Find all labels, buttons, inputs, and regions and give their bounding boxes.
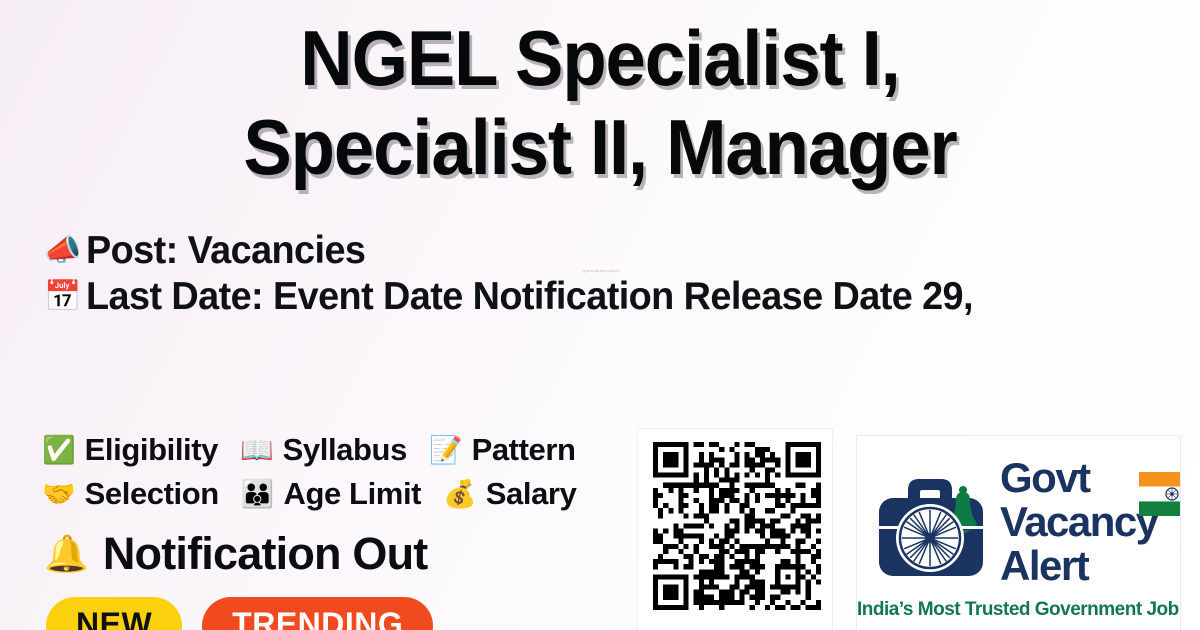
feature-salary: 💰 Salary <box>443 476 576 512</box>
meta-row-last-date: 📅 Last Date: Event Date Notification Rel… <box>44 274 1200 320</box>
title-line-1: NGEL Specialist I, <box>79 14 1121 103</box>
handshake-selection-icon: 🤝 <box>42 481 76 508</box>
watermark-text: govtvacancyalert <box>583 268 619 273</box>
new-badge[interactable]: NEW <box>46 597 182 630</box>
qr-code-card[interactable] <box>637 428 833 630</box>
feature-label-age-limit: Age Limit <box>283 476 421 512</box>
check-mark-icon: ✅ <box>42 437 76 464</box>
exam-paper-icon: 📝 <box>429 437 463 464</box>
feature-row-1: ✅ Eligibility 📖 Syllabus 📝 Pattern <box>42 428 662 472</box>
brand-line-govt: Govt <box>1000 456 1158 500</box>
post-vacancies-text: Post: Vacancies <box>86 229 365 273</box>
brand-logo-card: Govt Vacancy Alert <box>856 435 1181 630</box>
feature-row-2: 🤝 Selection 👪 Age Limit 💰 Salary <box>42 472 662 516</box>
title-line-2: Specialist II, Manager <box>79 103 1121 192</box>
brand-line-alert: Alert <box>1000 544 1158 588</box>
meta-block: 📣 Post: Vacancies 📅 Last Date: Event Dat… <box>44 228 1200 320</box>
qr-code[interactable] <box>653 442 821 610</box>
feature-label-syllabus: Syllabus <box>283 432 407 468</box>
page-title: NGEL Specialist I, Specialist II, Manage… <box>0 14 1200 192</box>
open-book-icon: 📖 <box>240 437 274 464</box>
feature-age-limit: 👪 Age Limit <box>241 476 421 512</box>
family-icon: 👪 <box>241 481 275 508</box>
brand-line-vacancy: Vacancy <box>1000 500 1158 544</box>
india-flag-icon <box>1139 472 1181 516</box>
badge-row: NEW TRENDING <box>46 597 433 630</box>
feature-pattern: 📝 Pattern <box>429 432 576 468</box>
feature-label-selection: Selection <box>85 476 219 512</box>
ashoka-chakra-icon <box>896 504 964 572</box>
job-alert-poster: NGEL Specialist I, Specialist II, Manage… <box>0 0 1200 630</box>
brand-tagline: India’s Most Trusted Government Job Aler… <box>857 599 1181 621</box>
meta-row-post: 📣 Post: Vacancies <box>44 228 1200 274</box>
feature-label-salary: Salary <box>486 476 577 512</box>
notification-out-label: Notification Out <box>103 528 428 580</box>
feature-list: ✅ Eligibility 📖 Syllabus 📝 Pattern 🤝 Sel… <box>42 428 662 516</box>
notification-out-row: 🔔 Notification Out <box>44 528 427 580</box>
feature-label-pattern: Pattern <box>472 432 576 468</box>
money-bag-icon: 💰 <box>443 481 477 508</box>
feature-selection: 🤝 Selection <box>42 476 219 512</box>
brand-wordmark: Govt Vacancy Alert <box>1000 456 1158 588</box>
feature-eligibility: ✅ Eligibility <box>42 432 218 468</box>
briefcase-chakra-bell-logo-icon <box>867 460 999 588</box>
calendar-icon: 📅 <box>44 282 86 312</box>
feature-syllabus: 📖 Syllabus <box>240 432 407 468</box>
bell-icon: 🔔 <box>44 536 89 572</box>
trending-badge[interactable]: TRENDING <box>202 597 433 630</box>
feature-label-eligibility: Eligibility <box>85 432 218 468</box>
brand-logo-main: Govt Vacancy Alert <box>867 460 1172 590</box>
last-date-text: Last Date: Event Date Notification Relea… <box>86 275 973 319</box>
megaphone-icon: 📣 <box>44 236 86 266</box>
